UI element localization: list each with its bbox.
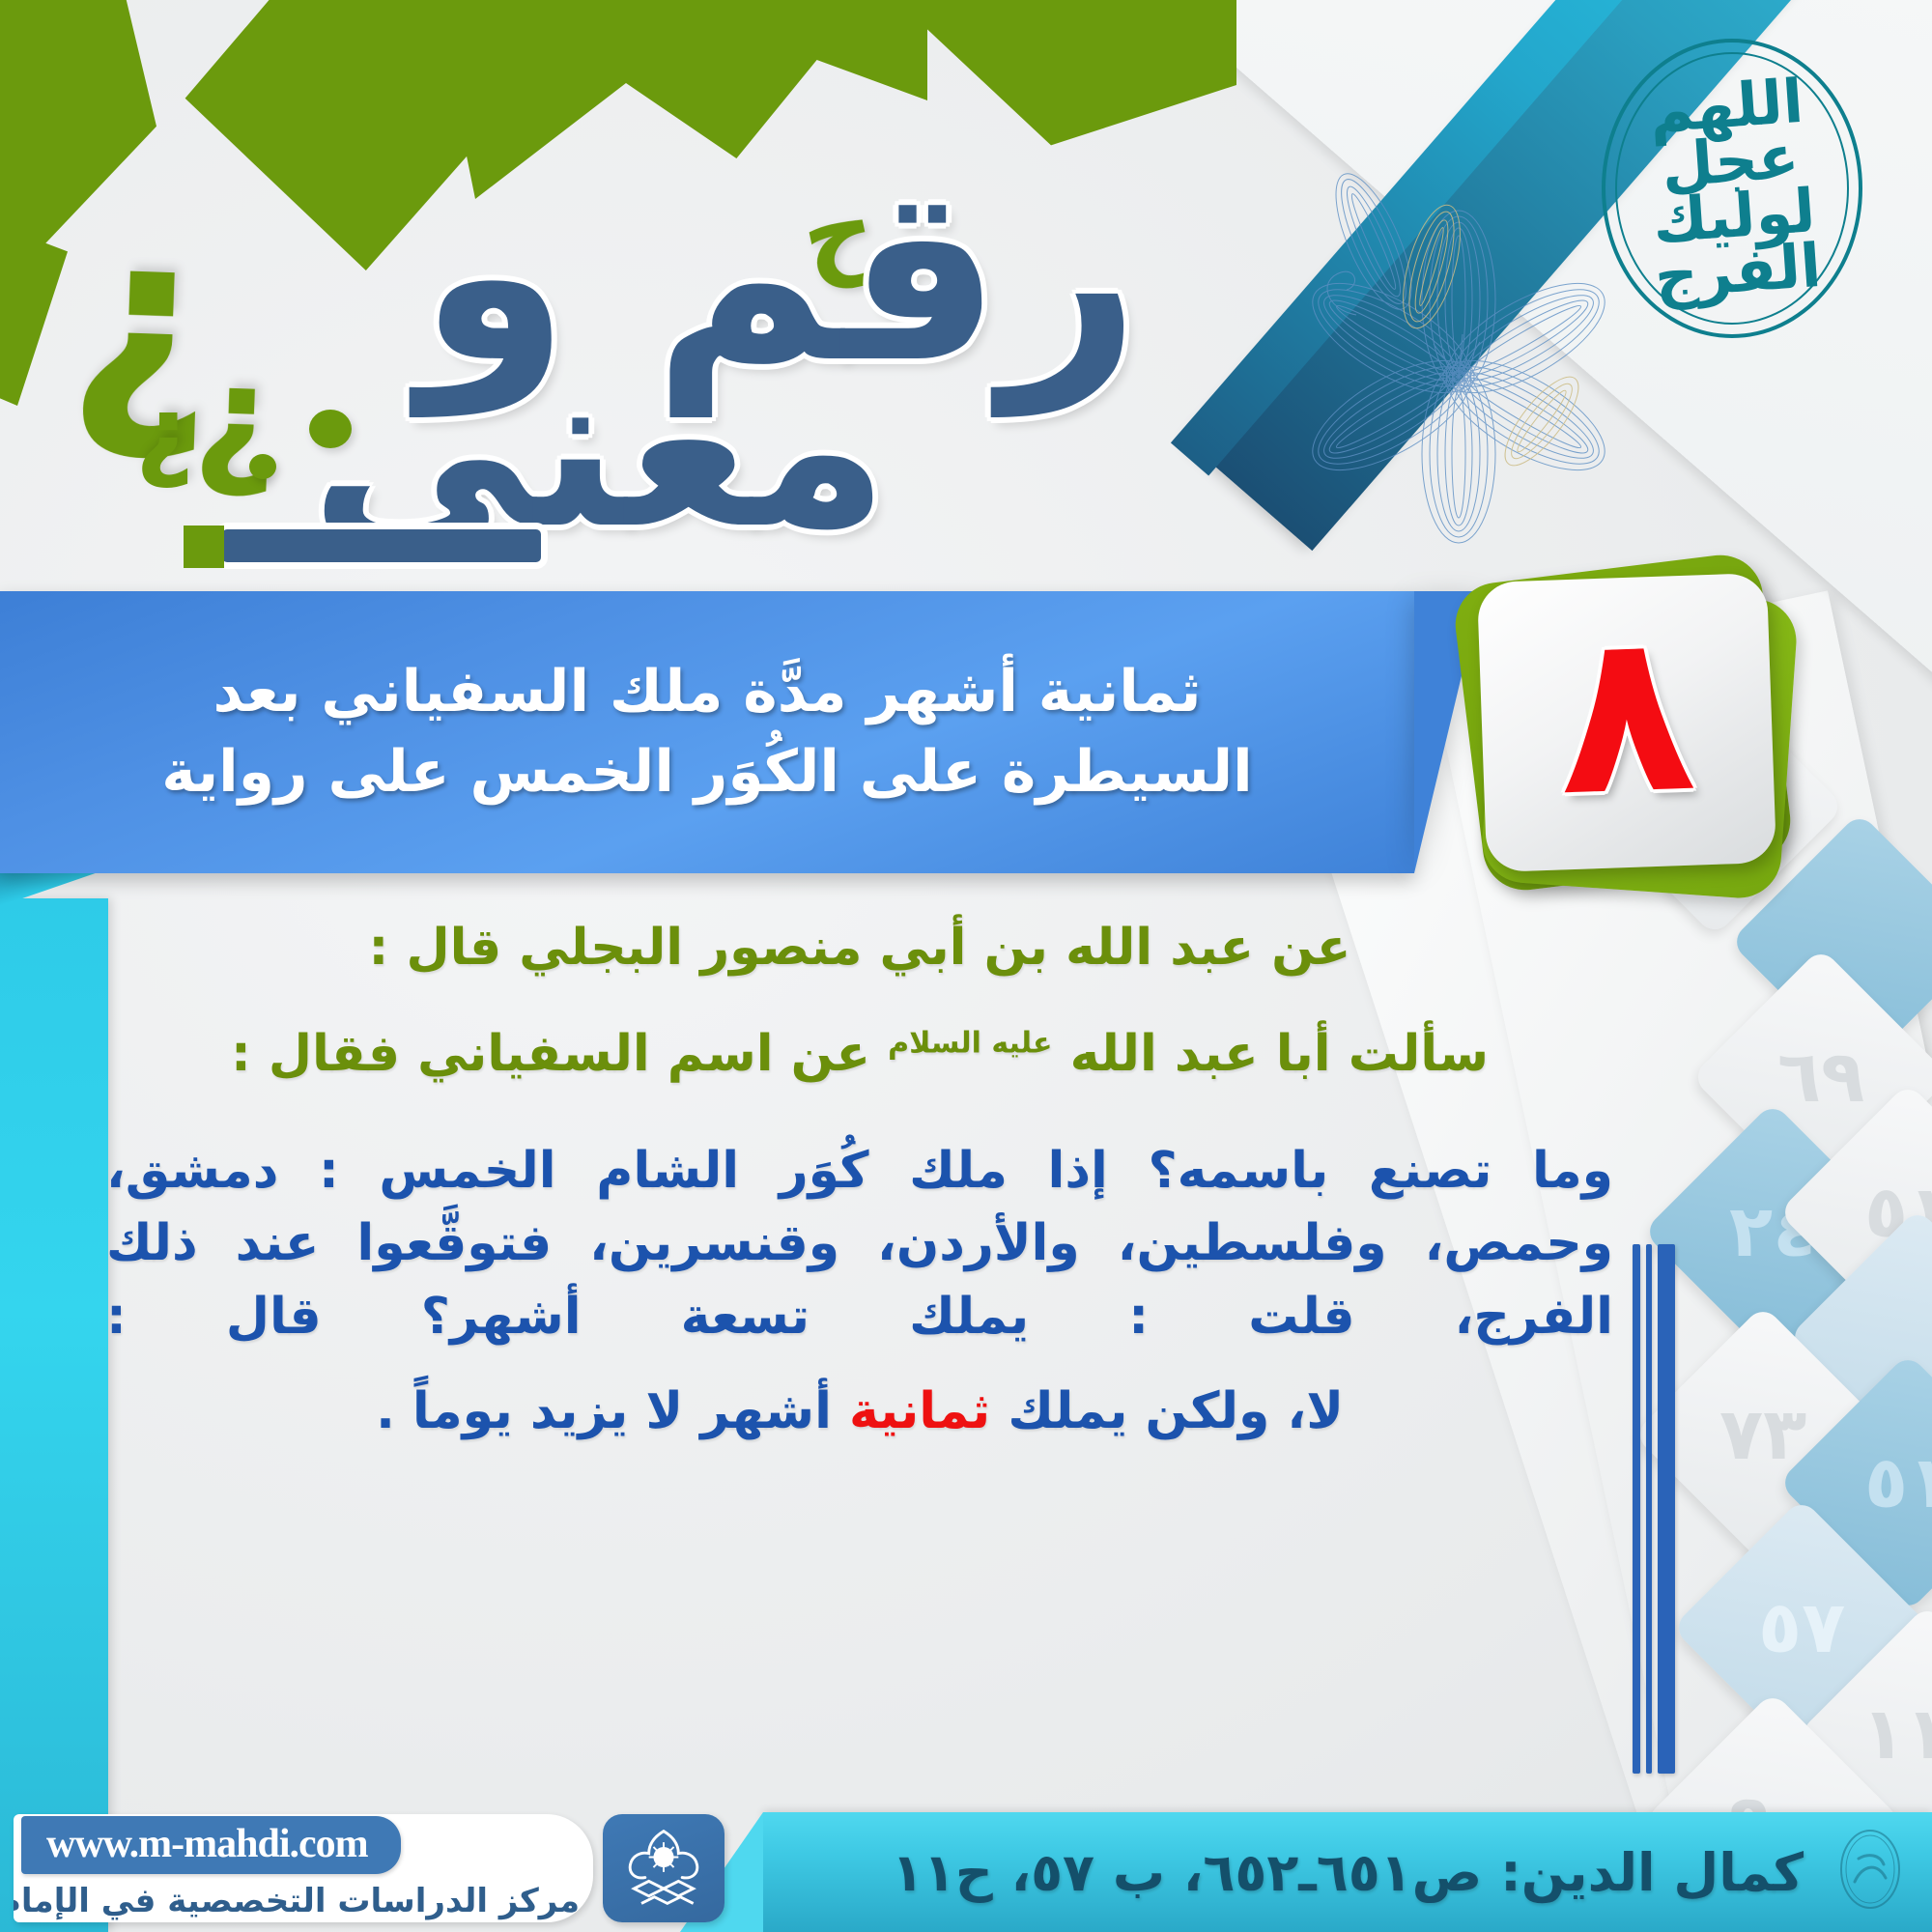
number-badge: ٨ — [1432, 541, 1818, 927]
brand-panel: www.m-mahdi.com مركز الدراسات التخصصية ف… — [14, 1814, 593, 1922]
logo-line-2: معنى — [310, 338, 889, 560]
badge-number-value: ٨ — [1555, 624, 1697, 807]
logo-underline-bar — [222, 529, 541, 562]
headline-line-2: السيطرة على الكُوَر الخمس على رواية — [79, 739, 1335, 806]
logo-green-square-icon — [184, 526, 224, 568]
narrator-line-2-part-a: سألت أبا عبد الله — [1070, 1025, 1489, 1083]
narrator-line-2: سألت أبا عبد الله عليه السلام عن اسم الس… — [106, 1029, 1613, 1079]
narrator-line-2-part-b: عن اسم السفياني فقال : — [231, 1025, 870, 1083]
decor-number: ١١٥ — [1861, 1692, 1932, 1776]
decor-number: ٢٤ — [1729, 1190, 1816, 1273]
honorific-icon: عليه السلام — [888, 1027, 1052, 1061]
decor-number: ٧٣ — [1719, 1393, 1806, 1476]
decor-number: ٥١ — [1864, 1441, 1932, 1524]
hadith-paragraph-2: لا، ولكن يملك ثمانية أشهر لا يزيد يوماً … — [106, 1386, 1613, 1436]
highlighted-number-word: ثمانية — [849, 1382, 990, 1440]
vertical-bar — [1658, 1244, 1675, 1774]
decor-number-tile: ٦٩ — [1691, 948, 1932, 1207]
headline-banner: ثمانية أشهر مدَّة ملك السفياني بعد السيط… — [0, 591, 1414, 873]
vertical-bar — [1646, 1244, 1652, 1774]
poster-canvas: ٣١٣ ٦٩ ٢٤ ٥١ ٧٣ ٥١ ٥٧ ١١٥ ٩٠ — [0, 0, 1932, 1932]
left-cyan-edge-bar — [0, 898, 108, 1932]
organization-emblem-icon — [603, 1814, 724, 1922]
decor-number-tile: ٥١ — [1778, 1353, 1932, 1613]
badge-face: ٨ — [1477, 573, 1776, 872]
calligraphy-medallion: اللهم عجل لوليك الفرج — [1602, 39, 1862, 338]
decor-number-tile — [1788, 1208, 1932, 1468]
decor-number: ٥١ — [1864, 1171, 1932, 1254]
decor-number-tile: ٢٤ — [1643, 1102, 1903, 1362]
lily-flower-icon — [1256, 145, 1662, 551]
hadith-paragraph-1: وما تصنع باسمه؟ إذا ملك كُوَر الشام الخم… — [106, 1135, 1613, 1353]
green-shape — [0, 203, 68, 406]
corner-seal-icon — [1830, 1826, 1911, 1913]
decor-number: ٥٧ — [1758, 1586, 1845, 1669]
decor-vertical-bars — [1633, 1244, 1675, 1774]
narrator-line-1: عن عبد الله بن أبي منصور البجلي قال : — [106, 923, 1613, 973]
vertical-bar — [1633, 1244, 1640, 1774]
footer-brand[interactable]: www.m-mahdi.com مركز الدراسات التخصصية ف… — [10, 1814, 724, 1922]
decor-number-tile: ٥٧ — [1672, 1498, 1932, 1758]
green-shape — [850, 0, 1236, 155]
website-url[interactable]: www.m-mahdi.com — [21, 1816, 401, 1874]
medallion-text: اللهم عجل لوليك الفرج — [1594, 70, 1869, 307]
headline-line-1: ثمانية أشهر مدَّة ملك السفياني بعد — [79, 659, 1335, 725]
paragraph-2-part-a: لا، ولكن يملك — [1008, 1382, 1344, 1440]
source-citation-text: كمال الدين: ص٦٥١ـ٦٥٢، ب ٥٧، ح١١ — [892, 1842, 1804, 1903]
paragraph-2-part-b: أشهر لا يزيد يوماً . — [376, 1382, 832, 1440]
decor-number: ٦٩ — [1777, 1036, 1864, 1119]
brand-logo: رقم و معنى — [116, 145, 1159, 551]
hadith-body: عن عبد الله بن أبي منصور البجلي قال : سأ… — [106, 923, 1613, 1492]
source-citation-bar: كمال الدين: ص٦٥١ـ٦٥٢، ب ٥٧، ح١١ — [763, 1812, 1932, 1932]
organization-name: مركز الدراسات التخصصية في الإمام المهدي — [14, 1882, 580, 1920]
decor-number-tile: ٥١ — [1778, 1083, 1932, 1343]
